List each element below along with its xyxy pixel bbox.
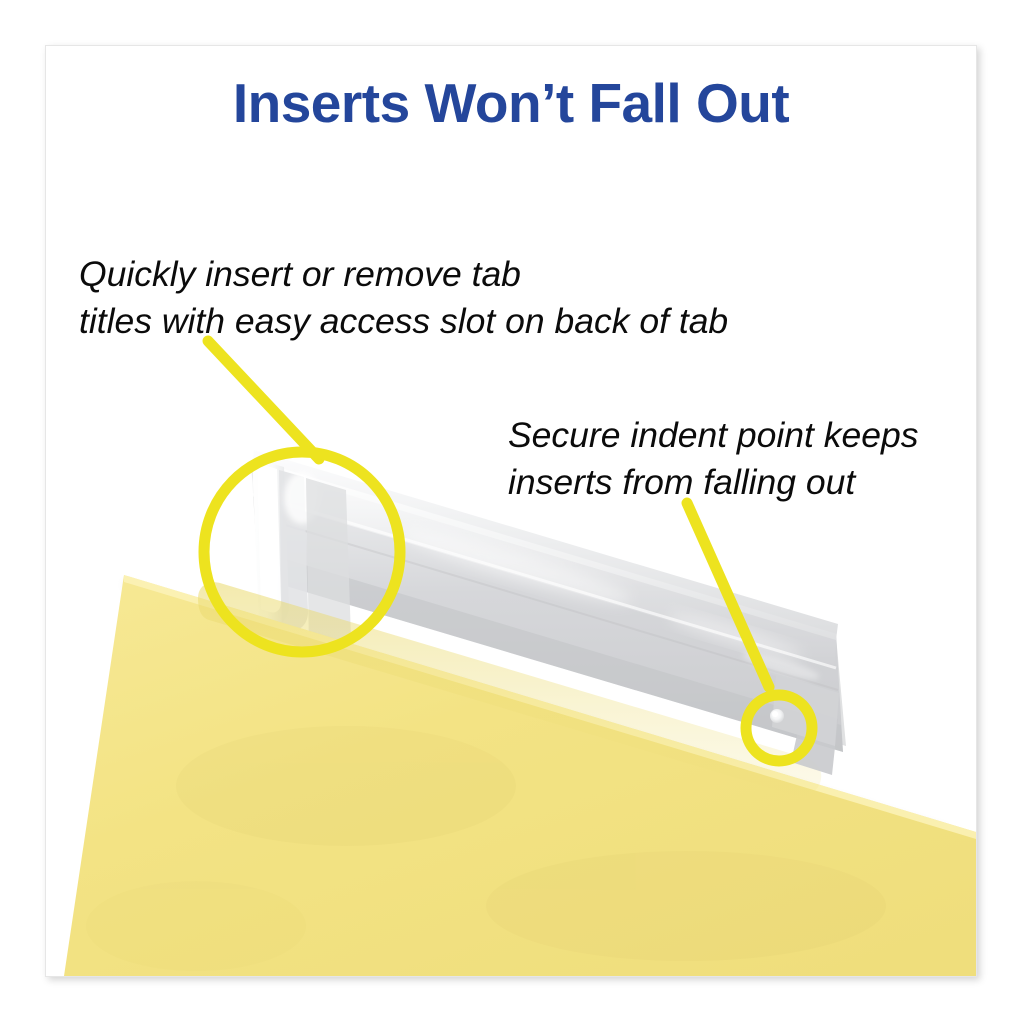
indent-point-highlight [772,711,778,717]
callout-slot-line-1: Quickly insert or remove tab [79,251,728,298]
callout-indent-text: Secure indent point keeps inserts from f… [508,412,919,506]
callout-indent-line-1: Secure indent point keeps [508,412,919,459]
callout-slot-line-2: titles with easy access slot on back of … [79,298,728,345]
product-feature-card: Inserts Won’t Fall Out Quickly insert or… [45,45,977,977]
product-photo-svg [46,46,976,976]
infographic-canvas: Inserts Won’t Fall Out Quickly insert or… [0,0,1024,1024]
page-title: Inserts Won’t Fall Out [46,76,976,131]
callout-indent-line-2: inserts from falling out [508,459,919,506]
callout-slot-text: Quickly insert or remove tab titles with… [79,251,728,345]
product-photo [46,46,976,976]
